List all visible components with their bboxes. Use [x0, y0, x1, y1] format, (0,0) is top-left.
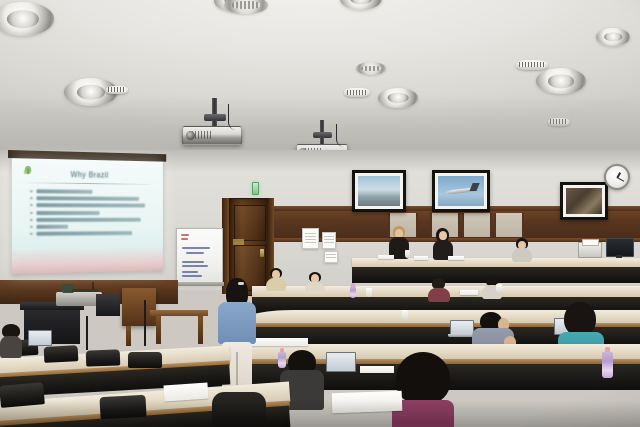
ceiling-light-strip [516, 60, 548, 70]
slide-bullet: Low price/Compared with foreign trade [37, 231, 132, 236]
slide-bullet: Economic emergence [37, 211, 100, 215]
framed-photo-airport [352, 170, 406, 212]
paper-sheet [448, 256, 464, 260]
wainscot-panel [494, 213, 524, 237]
paper-sheet [460, 290, 478, 295]
slide-bullet: Large population 210 million open to be [37, 204, 146, 208]
hair [396, 352, 450, 404]
projection-screen: Why Brazil Asian immigrants Dynamic publ… [8, 150, 166, 280]
projector-cable [336, 124, 348, 147]
torso [266, 278, 286, 291]
chair[interactable] [86, 349, 121, 366]
torso [428, 288, 450, 302]
paper-cup [366, 288, 372, 297]
ceiling-projector-left [182, 98, 246, 146]
head [439, 231, 447, 240]
printer [578, 242, 602, 258]
side-table-leg [156, 316, 161, 344]
wall-notice [324, 251, 338, 263]
chair[interactable] [44, 345, 79, 363]
av-equipment-box [96, 294, 120, 316]
slide-bullet-list: Asian immigrants Dynamic public sector a… [37, 189, 155, 239]
wall-clock [604, 164, 630, 190]
hair [564, 302, 596, 336]
document-camera-arm [72, 289, 98, 292]
torso [305, 282, 325, 294]
slide-bullet: Good relationship, both government and p… [37, 218, 141, 222]
seated-front-left [266, 268, 286, 290]
av-cable [86, 316, 88, 350]
seated-front-right [305, 272, 325, 292]
slide-bullet: Asian immigrants [37, 189, 93, 193]
paper-cup [496, 284, 502, 293]
wall-notice [302, 228, 319, 249]
podium [122, 288, 156, 326]
podium-leg [126, 326, 131, 346]
hair-clip-icon [238, 282, 244, 285]
foreground-shadow [0, 400, 640, 427]
projector-cable [228, 104, 241, 130]
exit-sign [252, 182, 259, 195]
ceiling-light-strip [106, 86, 128, 94]
ceiling-downlight [596, 28, 630, 46]
paper-sheet [414, 256, 428, 260]
laptop[interactable] [326, 352, 356, 372]
slide-title-rule [27, 182, 151, 185]
presentation-slide: Why Brazil Asian immigrants Dynamic publ… [12, 158, 163, 274]
slide-bullet-continuation [37, 225, 69, 229]
lecture-hall-photo: Why Brazil Asian immigrants Dynamic publ… [0, 0, 640, 427]
pants-seam [236, 352, 238, 386]
chair[interactable] [128, 352, 162, 368]
clock-minute-hand [617, 177, 625, 182]
student-far-left [0, 324, 24, 356]
torso [0, 336, 22, 358]
paper-cup [405, 250, 410, 258]
printer-paper-tray [582, 239, 599, 246]
framed-photo-aircraft [432, 170, 490, 212]
ceiling-air-vent [356, 62, 386, 75]
paper-cup [402, 310, 408, 320]
torso [512, 248, 532, 262]
water-bottle [350, 286, 356, 298]
wainscot-panel [462, 213, 492, 237]
door-kickplate [233, 239, 244, 245]
av-cable [144, 300, 146, 346]
slide-bullet: Dynamic public sector and natural resour… [37, 196, 139, 201]
seated-back-right [512, 238, 532, 262]
torso-denim-jacket [218, 302, 256, 344]
door-handle [260, 249, 264, 257]
ceiling-downlight [536, 68, 586, 94]
paper-stack [250, 338, 308, 346]
paper-sheet [378, 255, 394, 259]
whiteboard [176, 228, 223, 284]
side-table-leg [198, 316, 203, 344]
slide-title: Why Brazil [12, 169, 163, 180]
framed-photo-collage [560, 182, 608, 220]
laptop[interactable] [28, 330, 52, 346]
water-bottle [602, 352, 613, 378]
seated-mid-right [428, 278, 450, 300]
wall-notice [322, 232, 336, 249]
paper-sheet [163, 382, 208, 401]
